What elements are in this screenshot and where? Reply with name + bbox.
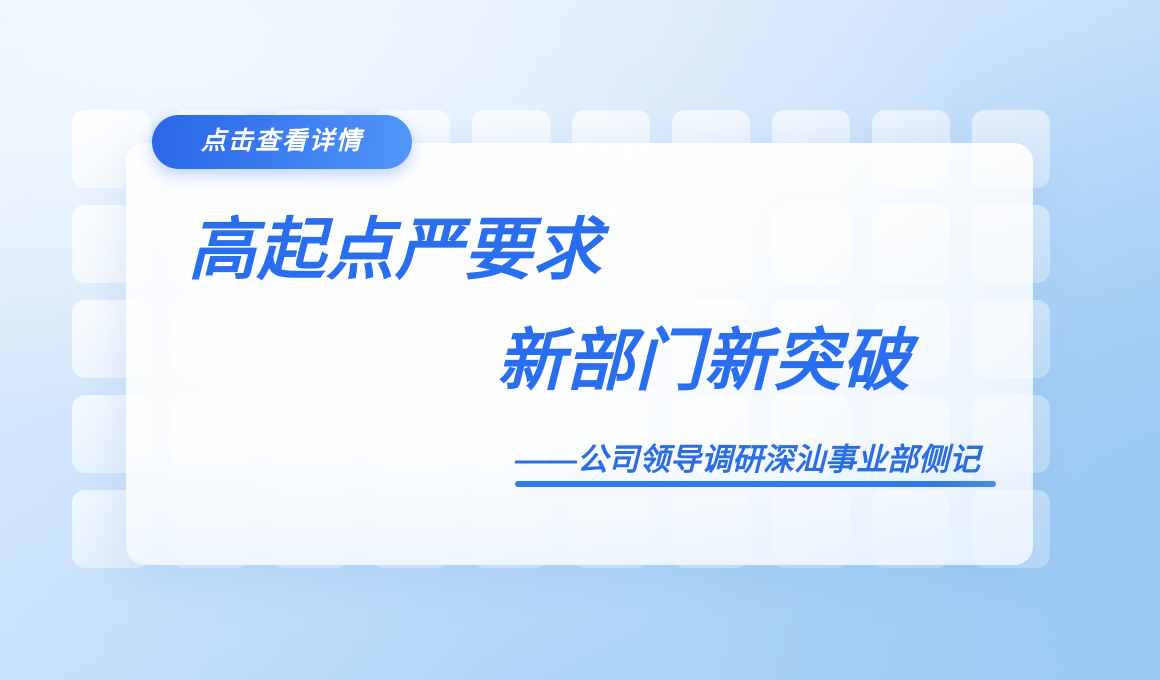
promo-banner: 点击查看详情 高起点严要求 新部门新突破 ——公司领导调研深汕事业部侧记	[0, 0, 1160, 680]
glass-card-panel	[126, 143, 1033, 565]
view-details-button-label: 点击查看详情	[201, 129, 363, 154]
view-details-button[interactable]: 点击查看详情	[152, 115, 412, 169]
